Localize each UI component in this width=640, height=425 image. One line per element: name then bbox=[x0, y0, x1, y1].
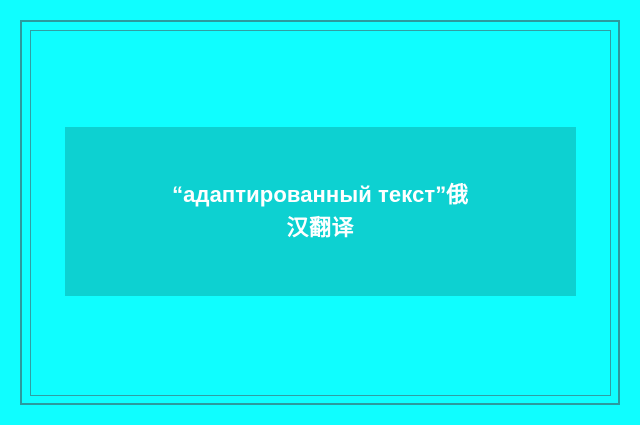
headline-russian-term: “адаптированный текст” bbox=[172, 182, 446, 207]
headline-band: “адаптированный текст”俄汉翻译 bbox=[65, 127, 576, 296]
banner-canvas: “адаптированный текст”俄汉翻译 bbox=[0, 0, 640, 425]
banner-headline: “адаптированный текст”俄汉翻译 bbox=[171, 179, 471, 243]
